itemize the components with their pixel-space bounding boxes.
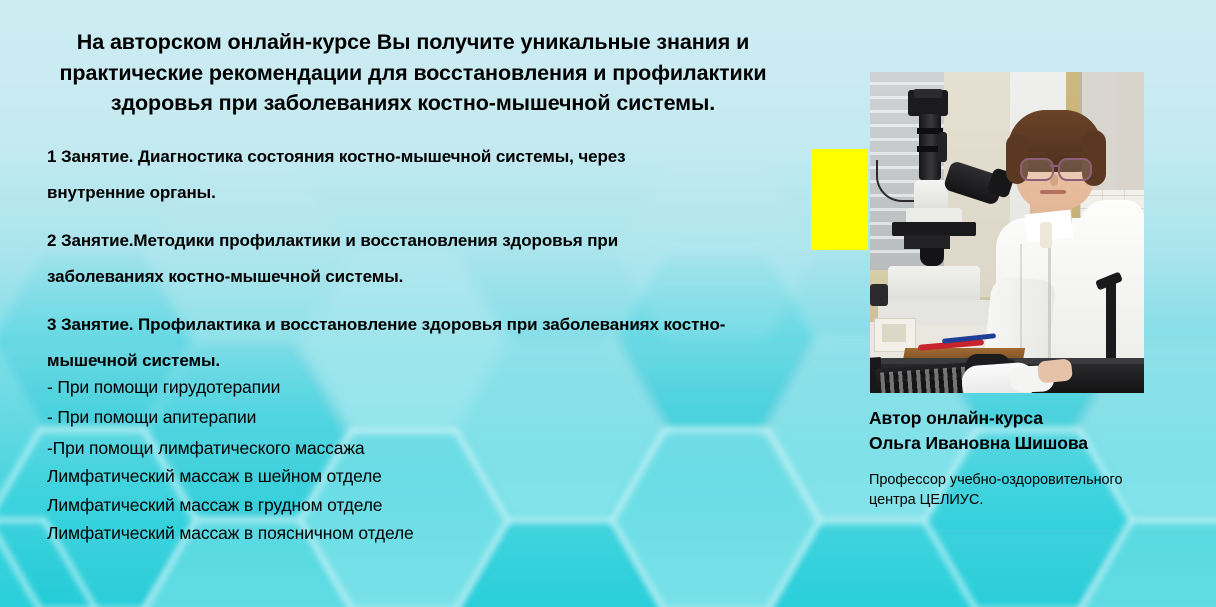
author-affiliation-line-1: Профессор учебно-оздоровительного [869, 470, 1199, 491]
lesson-item-1: 1 Занятие. Диагностика состояния костно-… [47, 146, 837, 204]
author-caption: Автор онлайн-курса Ольга Ивановна Шишова… [869, 406, 1199, 511]
slide-root: На авторском онлайн-курсе Вы получите ун… [0, 0, 1216, 607]
lesson-3-line-1: 3 Занятие. Профилактика и восстановление… [47, 314, 837, 337]
lesson-3-line-2: мышечной системы. [47, 350, 837, 373]
page-title: На авторском онлайн-курсе Вы получите ун… [18, 27, 808, 119]
lesson-1-line-1: 1 Занятие. Диагностика состояния костно-… [47, 146, 837, 169]
lesson-3-sub-list: - При помощи гирудотерапии - При помощи … [47, 379, 837, 543]
lesson-item-2: 2 Занятие.Методики профилактики и восста… [47, 230, 837, 288]
list-item: - При помощи гирудотерапии [47, 379, 837, 397]
author-title-block: Автор онлайн-курса Ольга Ивановна Шишова [869, 406, 1199, 456]
author-affiliation-line-2: центра ЦЕЛИУС. [869, 490, 1199, 511]
lesson-2-line-1: 2 Занятие.Методики профилактики и восста… [47, 230, 837, 253]
author-affiliation: Профессор учебно-оздоровительного центра… [869, 470, 1199, 511]
lesson-item-3: 3 Занятие. Профилактика и восстановление… [47, 314, 837, 372]
list-item: Лимфатический массаж в поясничном отделе [47, 525, 837, 543]
lesson-list: 1 Занятие. Диагностика состояния костно-… [47, 146, 837, 554]
list-item: Лимфатический массаж в грудном отделе [47, 497, 837, 515]
list-item: -При помощи лимфатического массажа [47, 440, 837, 458]
lesson-1-line-2: внутренние органы. [47, 182, 837, 205]
list-item: Лимфатический массаж в шейном отделе [47, 468, 837, 486]
title-line-3: здоровья при заболеваниях костно-мышечно… [18, 88, 808, 119]
author-photo [870, 72, 1144, 393]
author-name: Ольга Ивановна Шишова [869, 431, 1199, 456]
lesson-2-line-2: заболеваниях костно-мышечной системы. [47, 266, 837, 289]
list-item: - При помощи апитерапии [47, 409, 837, 427]
title-line-2: практические рекомендации для восстановл… [18, 58, 808, 89]
content-column: На авторском онлайн-курсе Вы получите ун… [0, 0, 840, 607]
title-line-1: На авторском онлайн-курсе Вы получите ун… [18, 27, 808, 58]
author-role: Автор онлайн-курса [869, 406, 1199, 431]
yellow-accent-block [811, 149, 868, 250]
